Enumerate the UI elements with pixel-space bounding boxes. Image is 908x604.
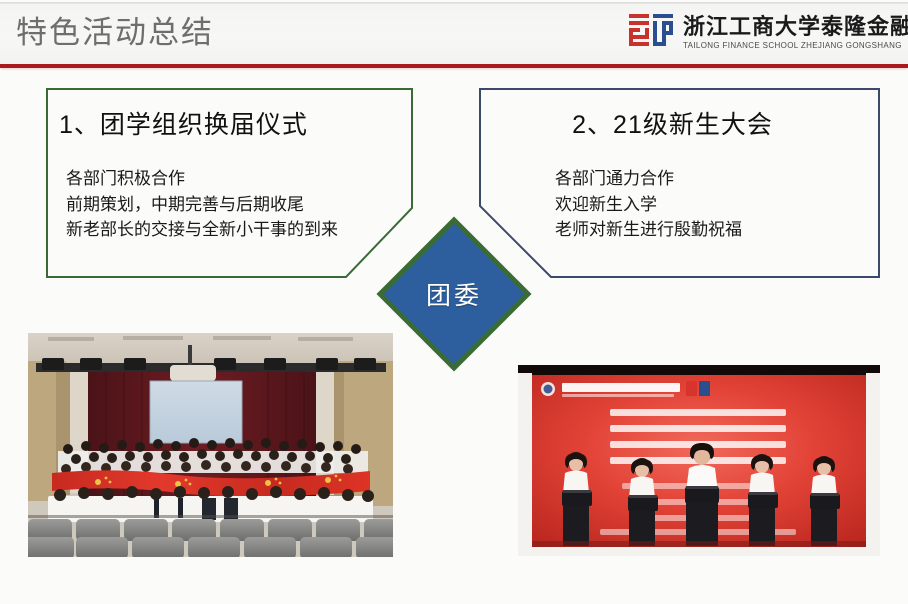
- photo-right-freshman-assembly: [518, 365, 880, 556]
- school-logo: 浙江工商大学泰隆金融学院 TAILONG FINANCE SCHOOL ZHEJ…: [628, 11, 908, 53]
- content-line: 各部门积极合作: [66, 166, 338, 192]
- content-box-left-body: 各部门积极合作 前期策划，中期完善与后期收尾 新老部长的交接与全新小干事的到来: [66, 166, 338, 243]
- content-box-left-heading: 1、团学组织换届仪式: [59, 108, 308, 142]
- content-box-left: 1、团学组织换届仪式 各部门积极合作 前期策划，中期完善与后期收尾 新老部长的交…: [46, 88, 413, 278]
- school-name-en: TAILONG FINANCE SCHOOL ZHEJIANG GONGSHAN…: [683, 40, 908, 51]
- content-box-right: 2、21级新生大会 各部门通力合作 欢迎新生入学 老师对新生进行殷勤祝福: [479, 88, 880, 278]
- photo-left-group-ceremony: [28, 333, 393, 557]
- content-box-right-heading: 2、21级新生大会: [479, 108, 866, 142]
- content-line: 各部门通力合作: [555, 166, 742, 192]
- content-line: 欢迎新生入学: [555, 192, 742, 218]
- content-line: 老师对新生进行殷勤祝福: [555, 217, 742, 243]
- school-logo-mark-icon: [628, 11, 674, 53]
- school-logo-text: 浙江工商大学泰隆金融学院 TAILONG FINANCE SCHOOL ZHEJ…: [683, 14, 908, 51]
- slide-canvas: 特色活动总结: [0, 0, 908, 604]
- content-line: 新老部长的交接与全新小干事的到来: [66, 217, 338, 243]
- content-line: 前期策划，中期完善与后期收尾: [66, 192, 338, 218]
- school-name-cn: 浙江工商大学泰隆金融学院: [683, 14, 908, 39]
- header-accent-rule: [0, 64, 908, 68]
- center-diamond-badge: 团委: [376, 216, 532, 372]
- content-box-right-body: 各部门通力合作 欢迎新生入学 老师对新生进行殷勤祝福: [555, 166, 742, 243]
- page-title: 特色活动总结: [16, 11, 214, 55]
